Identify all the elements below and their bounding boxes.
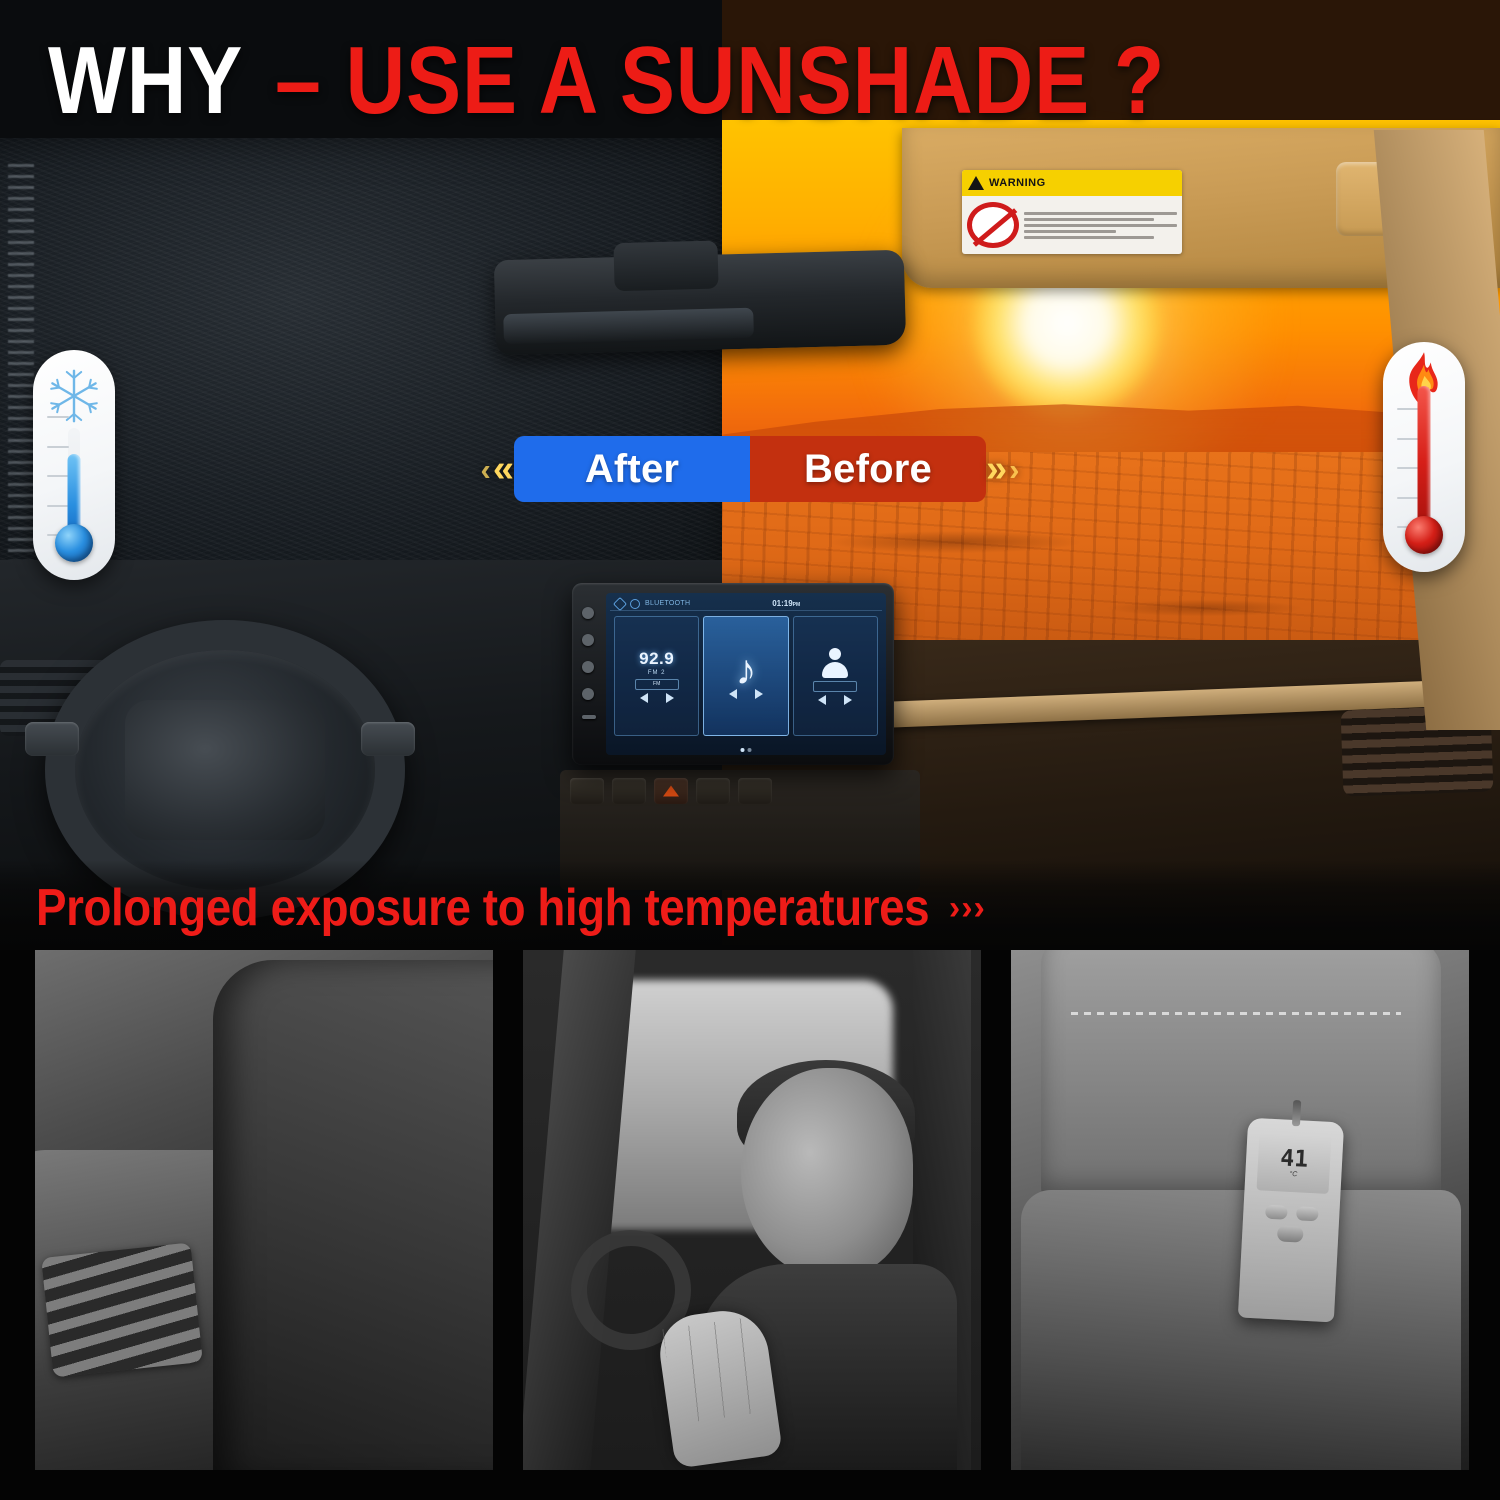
- warning-label-heading: WARNING: [989, 177, 1046, 189]
- eject-key-icon[interactable]: [582, 715, 596, 719]
- headline-chevron-2: ›: [961, 891, 972, 925]
- contact-chip[interactable]: [813, 681, 857, 692]
- radio-seek-controls[interactable]: [640, 693, 674, 703]
- thermometer-lcd: 41 °C: [1257, 1132, 1332, 1194]
- contact-prev-icon[interactable]: [818, 695, 826, 705]
- headline-band: Prolonged exposure to high temperatures …: [0, 860, 1500, 945]
- wheel-button-right: [361, 722, 415, 756]
- headline-chevron-1: ›: [949, 891, 960, 925]
- title-white-part: WHY: [48, 33, 243, 129]
- thermometer-reading: 41: [1280, 1147, 1309, 1171]
- warning-label-body: [962, 196, 1182, 254]
- thermometer-trigger-button: [1277, 1225, 1304, 1242]
- chevron-left-small-icon: ‹: [481, 454, 491, 485]
- music-note-icon: ♪: [735, 653, 756, 687]
- left-chevrons: ‹ «: [481, 450, 514, 488]
- media-next-icon[interactable]: [755, 689, 763, 699]
- headline-chevron-3: ›: [974, 891, 985, 925]
- airbag-warning-label: WARNING: [962, 170, 1182, 254]
- hero-split-image: WARNING: [0, 0, 1500, 945]
- media-transport-controls[interactable]: [729, 689, 763, 699]
- bluetooth-icon: [613, 596, 627, 610]
- console-button-5[interactable]: [738, 778, 772, 804]
- seat-heater-right-button[interactable]: [696, 778, 730, 804]
- thermometer-hot-bulb: [1405, 516, 1443, 554]
- head-unit-clock: 01:19PM: [772, 599, 800, 608]
- page-indicator-dots[interactable]: [741, 748, 752, 752]
- power-key-icon[interactable]: [582, 607, 594, 619]
- profile-icon: [820, 648, 850, 678]
- thermometer-unit: °C: [1289, 1171, 1297, 1178]
- phone-nav-controls[interactable]: [818, 695, 852, 705]
- radio-preset-chip[interactable]: FM: [635, 679, 679, 690]
- no-child-seat-icon: [967, 202, 1019, 248]
- before-after-toggle: ‹ « After Before » ›: [0, 433, 1500, 505]
- seek-prev-icon[interactable]: [640, 693, 648, 703]
- menu-key-icon[interactable]: [582, 688, 594, 700]
- headline-chevrons: › › ›: [949, 891, 985, 925]
- radio-frequency: 92.9: [639, 650, 674, 667]
- panel-interior-aging: [35, 950, 493, 1470]
- before-label[interactable]: Before: [750, 436, 986, 502]
- infrared-thermometer: 41 °C: [1238, 1118, 1344, 1323]
- thermometer-cold-bulb: [55, 524, 93, 562]
- clock-time: 01:19: [772, 599, 792, 608]
- infotainment-head-unit[interactable]: BLUETOOTH 01:19PM 92.9 FM 2 FM: [572, 583, 894, 765]
- steering-wheel-hub: [125, 700, 325, 840]
- radio-band: FM 2: [648, 670, 666, 676]
- man-fanning-face-photo: [523, 950, 981, 1470]
- rearview-mirror: [494, 250, 906, 356]
- media-tile[interactable]: ♪: [703, 616, 788, 736]
- benefit-panels: Accelerate the aging, fading, and cracki…: [0, 950, 1500, 1500]
- home-key-icon[interactable]: [582, 634, 594, 646]
- title-red-part: – USE A SUNSHADE ?: [275, 33, 1165, 129]
- warning-triangle-icon: [968, 176, 984, 190]
- head-unit-status-bar: BLUETOOTH 01:19PM: [610, 597, 882, 611]
- head-unit-side-keys[interactable]: [582, 607, 596, 719]
- panel-seat-temperature: 41 °C: [1011, 950, 1469, 1470]
- head-unit-screen[interactable]: BLUETOOTH 01:19PM 92.9 FM 2 FM: [606, 593, 886, 755]
- car-dashboard-vent-photo: [35, 950, 493, 1470]
- signal-icon: [630, 599, 640, 609]
- hazard-lights-button[interactable]: [654, 778, 688, 804]
- head-unit-tiles: 92.9 FM 2 FM ♪: [610, 611, 882, 741]
- seat-heater-left-button[interactable]: [612, 778, 646, 804]
- thermometer-buttons: [1265, 1205, 1319, 1222]
- headline-text: Prolonged exposure to high temperatures: [36, 878, 929, 938]
- page-dot-1[interactable]: [741, 748, 745, 752]
- seat-infrared-thermometer-photo: 41 °C: [1011, 950, 1469, 1470]
- warning-label-text-lines: [1024, 212, 1177, 239]
- page-title: WHY – USE A SUNSHADE ?: [0, 26, 1500, 136]
- chevron-left-icon: «: [493, 450, 514, 488]
- sunshade-infographic-poster: WARNING: [0, 0, 1500, 1500]
- console-button-1[interactable]: [570, 778, 604, 804]
- seek-next-icon[interactable]: [666, 693, 674, 703]
- contact-next-icon[interactable]: [844, 695, 852, 705]
- chevron-right-small-icon: ›: [1009, 454, 1019, 485]
- page-dot-2[interactable]: [748, 748, 752, 752]
- phone-tile[interactable]: [793, 616, 878, 736]
- volume-key-icon[interactable]: [582, 661, 594, 673]
- wheel-button-left: [25, 722, 79, 756]
- warning-label-header: WARNING: [962, 170, 1182, 196]
- connected-device-label: BLUETOOTH: [645, 600, 690, 607]
- radio-tile[interactable]: 92.9 FM 2 FM: [614, 616, 699, 736]
- panel-unpleasant-odor: [523, 950, 981, 1470]
- clock-ampm: PM: [793, 602, 801, 608]
- chevron-right-icon: »: [986, 450, 1007, 488]
- right-chevrons: » ›: [986, 450, 1019, 488]
- after-label[interactable]: After: [514, 436, 750, 502]
- media-prev-icon[interactable]: [729, 689, 737, 699]
